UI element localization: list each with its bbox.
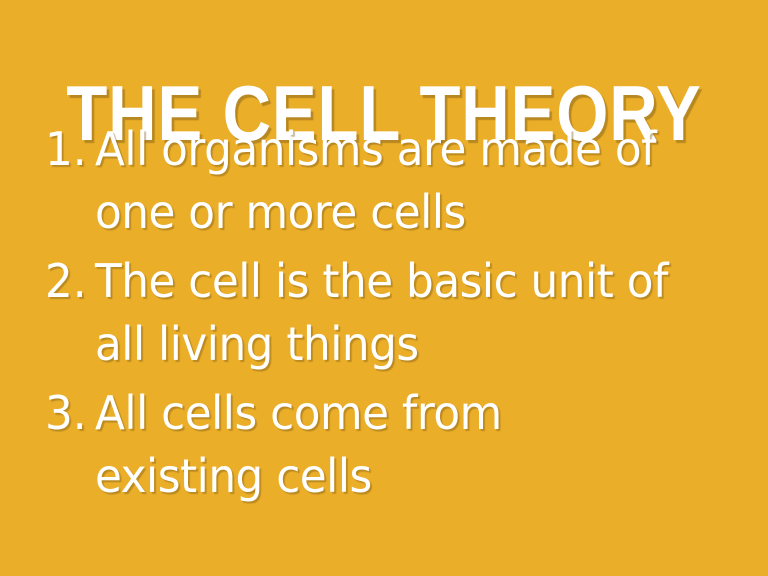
list-item-line: all living things xyxy=(95,313,713,376)
theory-list: 1. All organisms are made of one or more… xyxy=(45,118,745,514)
list-item: 3. All cells come from existing cells xyxy=(45,382,745,508)
list-item: 2. The cell is the basic unit of all liv… xyxy=(45,250,745,376)
list-item-text: All cells come from existing cells xyxy=(95,382,713,508)
list-item-line: All cells come from xyxy=(95,382,713,445)
list-item-number: 3. xyxy=(45,382,93,445)
list-item-line: All organisms are made of xyxy=(95,118,713,181)
list-item-number: 2. xyxy=(45,250,93,313)
list-item-text: All organisms are made of one or more ce… xyxy=(95,118,713,244)
slide-canvas: THE CELL THEORY 1. All organisms are mad… xyxy=(0,0,768,576)
list-item-text: The cell is the basic unit of all living… xyxy=(95,250,713,376)
list-item-line: The cell is the basic unit of xyxy=(95,250,713,313)
list-item-line: one or more cells xyxy=(95,181,713,244)
list-item-line: existing cells xyxy=(95,445,713,508)
list-item: 1. All organisms are made of one or more… xyxy=(45,118,745,244)
list-item-number: 1. xyxy=(45,118,93,181)
